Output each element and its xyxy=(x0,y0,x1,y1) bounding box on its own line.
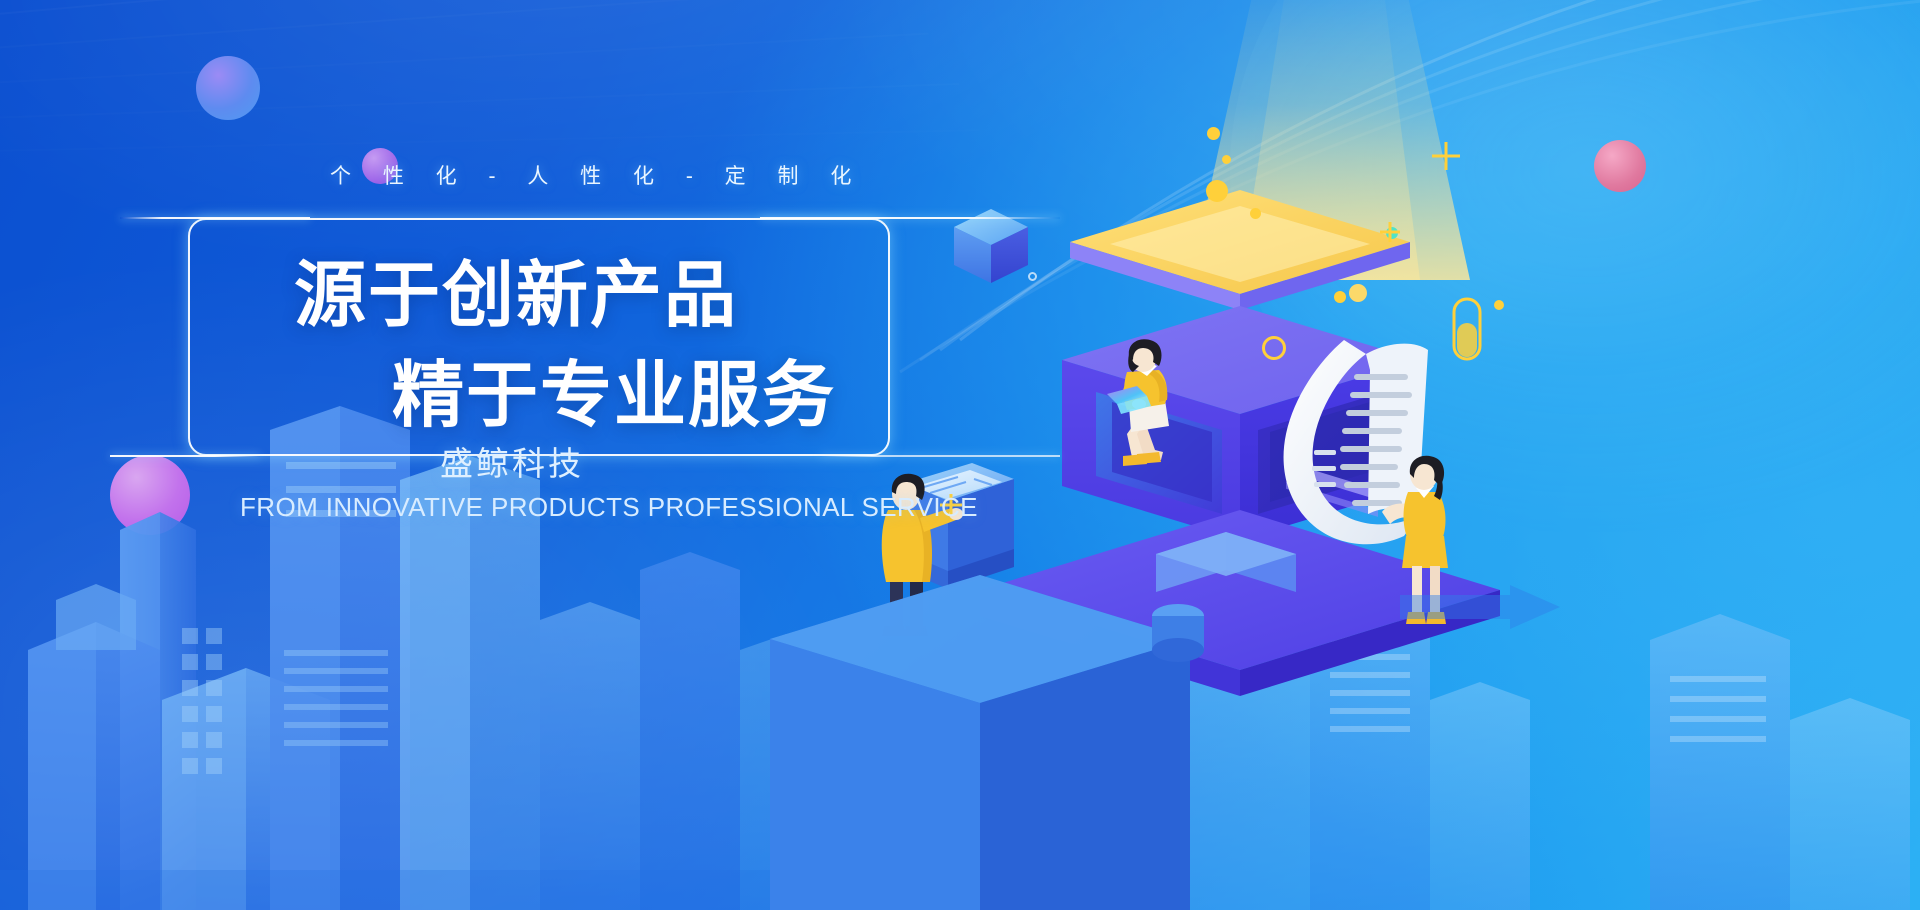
building-window-grid xyxy=(176,620,306,850)
ring-decor-icon xyxy=(1262,336,1286,360)
tagline-text: 个 性 化 - 人 性 化 - 定 制 化 xyxy=(330,160,750,190)
frame-gap-left xyxy=(186,212,312,223)
dot-yellow-3 xyxy=(1206,180,1228,202)
dot-yellow-6 xyxy=(1349,284,1367,302)
frame-line-right xyxy=(760,217,1060,219)
dot-white-small xyxy=(1028,272,1037,281)
headline-line-1: 源于创新产品 xyxy=(294,236,738,341)
plus-decor-large-icon xyxy=(1432,142,1460,170)
dot-yellow-1 xyxy=(1207,127,1220,140)
cylinder-decor xyxy=(1148,600,1208,670)
plus-decor-cyan-icon xyxy=(1380,222,1400,242)
dot-yellow-4 xyxy=(1250,208,1261,219)
kiosk-platform xyxy=(770,575,1190,910)
dot-yellow-5 xyxy=(1334,291,1346,303)
capsule-decor-icon xyxy=(1450,295,1484,365)
dot-yellow-7 xyxy=(1494,300,1504,310)
frame-line-bottom-left xyxy=(110,455,260,457)
frame-line-bottom-right xyxy=(820,455,1060,457)
dot-yellow-2 xyxy=(1222,155,1231,164)
sphere-blue-top-left xyxy=(196,56,260,120)
seated-figure-with-laptop xyxy=(1093,338,1203,468)
deck-arrow xyxy=(1400,585,1560,655)
sphere-pink-top-right xyxy=(1594,140,1646,192)
english-tagline: FROM INNOVATIVE PRODUCTS PROFESSIONAL SE… xyxy=(240,492,978,523)
headline-line-2: 精于专业服务 xyxy=(392,336,836,441)
hero-banner: 个 性 化 - 人 性 化 - 定 制 化 源于创新产品 精于专业服务 盛鲸科技… xyxy=(0,0,1920,910)
company-name: 盛鲸科技 xyxy=(440,437,584,485)
